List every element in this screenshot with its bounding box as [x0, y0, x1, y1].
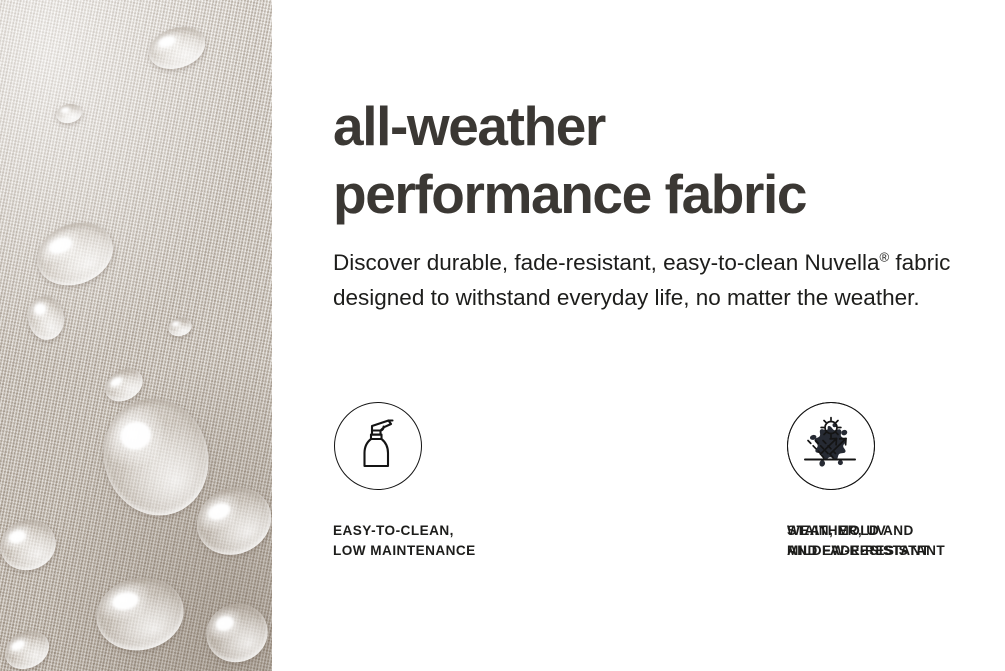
- fabric-photo: [0, 0, 272, 671]
- subcopy-paragraph: Discover durable, fade-resistant, easy-t…: [333, 245, 953, 315]
- subcopy-lead: Discover durable, fade-resistant, easy-t…: [333, 250, 880, 275]
- page-title: all-weather performance fabric: [333, 92, 806, 228]
- feature-list: EASY-TO-CLEAN, LOW MAINTENANCE: [333, 402, 1005, 561]
- feature-caption: WEATHER, UV AND FADE-RESISTANT: [787, 490, 945, 561]
- content-column: all-weather performance fabric Discover …: [333, 0, 1005, 671]
- promo-banner: all-weather performance fabric Discover …: [0, 0, 1005, 671]
- feature-weather-uv-resistant: WEATHER, UV AND FADE-RESISTANT: [787, 402, 1003, 561]
- feature-caption: EASY-TO-CLEAN, LOW MAINTENANCE: [333, 490, 476, 561]
- feature-easy-to-clean: EASY-TO-CLEAN, LOW MAINTENANCE: [333, 402, 561, 561]
- registered-trademark-mark: ®: [880, 250, 890, 265]
- spray-bottle-icon: [347, 413, 409, 480]
- feature-icon-frame: [334, 402, 422, 490]
- sun-uv-reflect-icon: [799, 413, 863, 480]
- feature-icon-frame: [787, 402, 875, 490]
